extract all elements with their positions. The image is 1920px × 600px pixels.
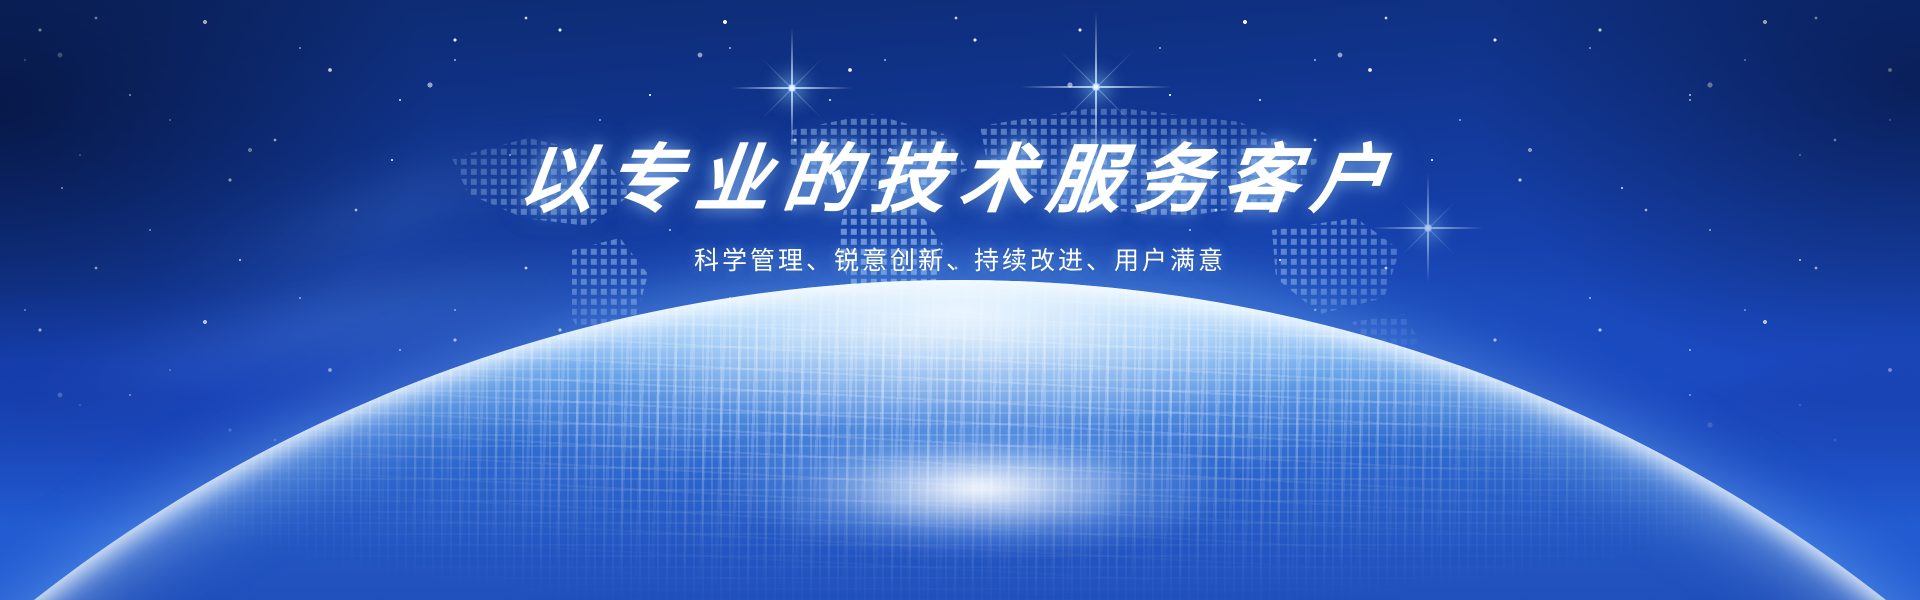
banner-subline: 科学管理、锐意创新、持续改进、用户满意 xyxy=(0,241,1920,277)
banner-headline: 以专业的技术服务客户 xyxy=(0,142,1920,219)
globe-light-streaks xyxy=(0,280,1920,600)
banner-text-block: 以专业的技术服务客户 科学管理、锐意创新、持续改进、用户满意 xyxy=(0,142,1920,277)
hero-banner: 以专业的技术服务客户 科学管理、锐意创新、持续改进、用户满意 xyxy=(0,0,1920,600)
earth-globe xyxy=(0,280,1920,600)
